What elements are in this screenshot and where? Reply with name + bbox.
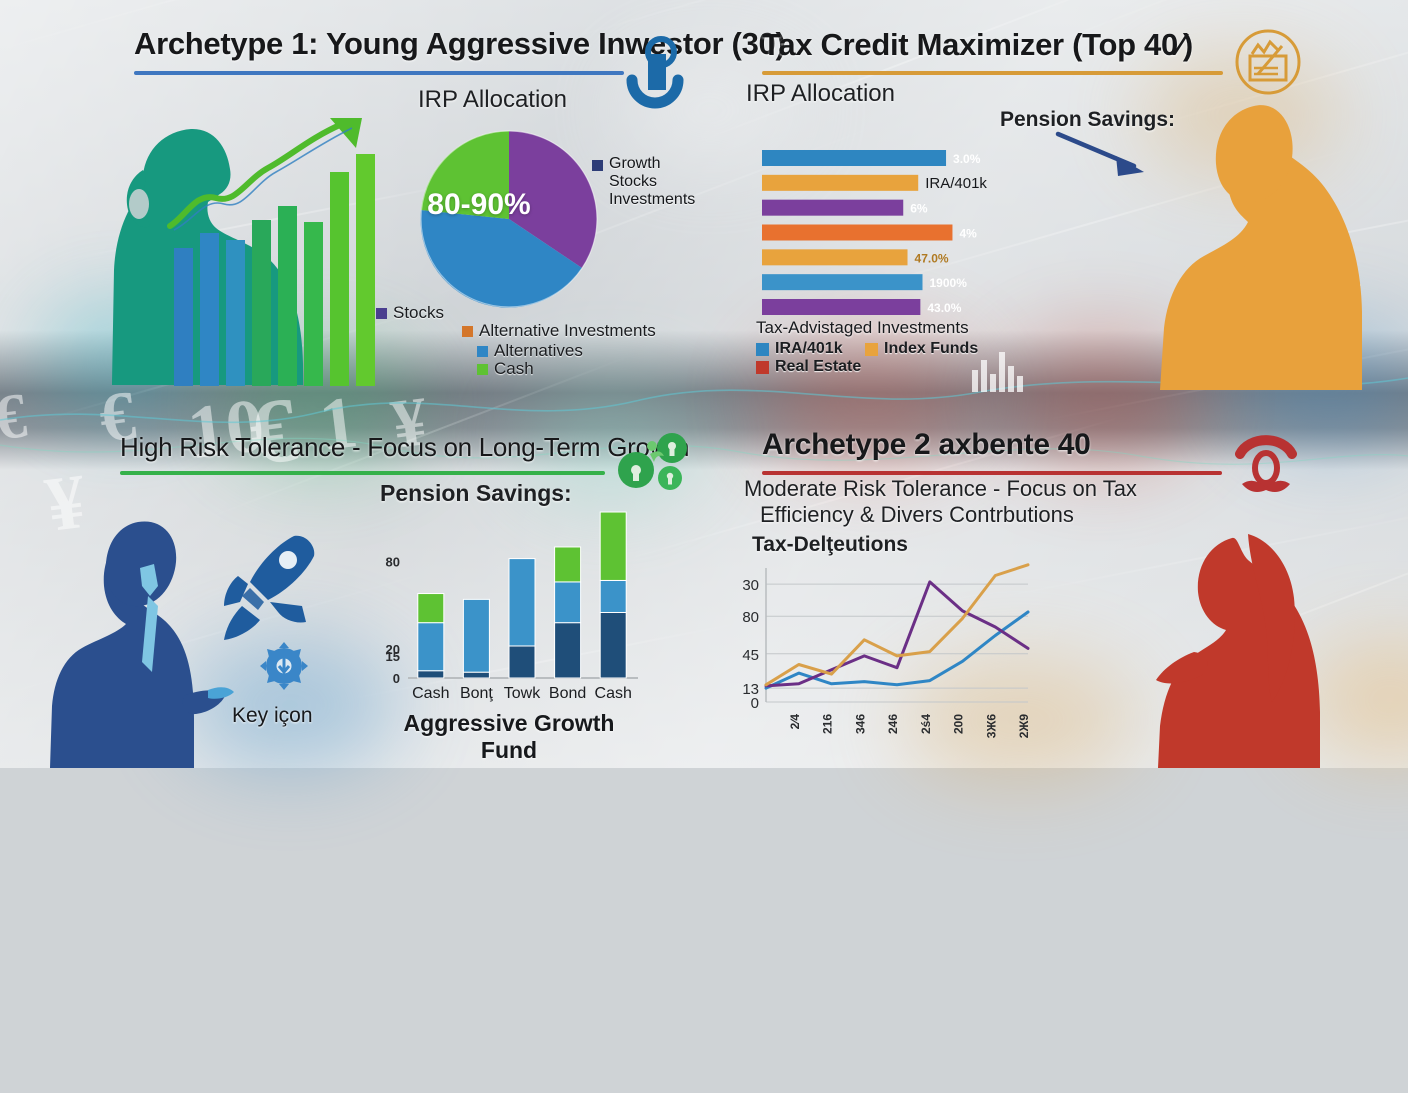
top-left-subtitle: IRP Allocation <box>418 86 567 114</box>
x-axis-category: Towk <box>504 685 541 702</box>
tax-maximizer-silhouette-orange <box>1156 98 1408 390</box>
tax-archetype-silhouette-red <box>1124 534 1374 768</box>
panel-bottom-right: Archetype 2 axbente 40 Moderate Risk Tol… <box>704 404 1408 768</box>
legend-label-growth-stocks: Growth Stocks Investments <box>609 155 687 209</box>
bottom-left-title-rule <box>120 471 605 475</box>
aggressive-growth-stacked-chart: 0152080CashBonţTowkBondCash <box>372 490 642 706</box>
pie-legend-alternative-investments: Alternative Investments <box>462 321 656 341</box>
x-axis-tick: 246 <box>886 714 900 734</box>
x-axis-tick: 200 <box>952 714 966 734</box>
panel-bottom-left: High Risk Tolerance - Focus on Long-Term… <box>0 404 704 768</box>
top-right-title-rule <box>762 71 1223 75</box>
x-axis-category: Cash <box>595 685 632 702</box>
y-axis-tick: 80 <box>386 555 400 570</box>
bar-value-label: 6% <box>910 202 928 216</box>
y-axis-tick: 45 <box>742 647 759 664</box>
user-group-icon <box>622 28 688 100</box>
x-axis-tick: 2⁄4 <box>788 714 802 730</box>
legend-label-stocks: Stocks <box>393 303 444 323</box>
legend-swatch-cash <box>477 364 488 375</box>
x-axis-tick: 216 <box>821 714 835 734</box>
pie-legend-growth-stocks: Growth Stocks Investments <box>592 155 687 209</box>
tax-deductions-line-chart: 0134580302⁄42163462462ś42003Ж62Ж9 <box>722 560 1042 760</box>
y-axis-tick: 20 <box>386 642 400 657</box>
bar-value-label: IRA/401k <box>925 175 987 192</box>
aggressive-growth-axis-label: Aggressive Growth Fund <box>384 710 634 764</box>
legend-label-cash: Cash <box>494 359 534 379</box>
legend-swatch-real-estate <box>756 361 769 374</box>
chart-document-icon <box>1234 28 1302 96</box>
top-right-title: Tax Credit Maximizer (Top 40⁄) <box>762 27 1193 63</box>
tax-advantaged-chart-title: Tax-Advistaged Investments <box>756 318 969 338</box>
legend-swatch-index-funds <box>865 343 878 356</box>
pension-savings-callout-top: Pension Savings: <box>1000 108 1175 132</box>
x-axis-category: Cash <box>412 685 449 702</box>
top-right-subtitle: IRP Allocation <box>746 80 895 108</box>
mini-bars-decoration <box>972 348 1032 392</box>
y-axis-tick: 13 <box>742 681 759 698</box>
gear-icon <box>258 640 310 692</box>
legend-swatch-alternatives <box>477 346 488 357</box>
legend-swatch-alternative-investments <box>462 326 473 337</box>
x-axis-tick: 3Ж6 <box>984 714 998 739</box>
panel-top-right: Tax Credit Maximizer (Top 40⁄) IRP Alloc… <box>704 0 1408 404</box>
panel-top-left: Archetype 1: Young Aggressive Inwestor (… <box>0 0 704 404</box>
bar-value-label: 4% <box>959 227 977 241</box>
key-icon-label: Key içon <box>232 704 313 728</box>
bottom-right-title-rule <box>762 471 1222 475</box>
pointer-arrow-icon <box>1056 130 1162 178</box>
pie-center-label: 80-90% <box>420 188 538 222</box>
x-axis-category: Bond <box>549 685 586 702</box>
y-axis-tick: 30 <box>742 577 759 594</box>
legend-label-alternatives: Alternatives <box>494 341 583 361</box>
y-axis-tick: 0 <box>393 671 400 686</box>
legend-swatch-growth-stocks <box>592 160 603 171</box>
legend-swatch-stocks <box>376 308 387 319</box>
top-left-title-rule <box>134 71 624 75</box>
legend-label-alternative-investments: Alternative Investments <box>479 321 656 341</box>
umbrella-pin-icon <box>1228 426 1304 494</box>
bottom-right-title: Archetype 2 axbente 40 <box>762 428 1091 462</box>
x-axis-tick: 346 <box>853 714 867 734</box>
x-axis-category: Bonţ <box>460 685 493 702</box>
y-axis-tick: 80 <box>742 609 759 626</box>
bar-legend-ira401k: IRA/401k <box>756 340 843 358</box>
rocket-icon <box>222 532 318 642</box>
legend-label-real-estate: Real Estate <box>775 358 861 376</box>
tax-advantaged-bar-chart: 3.0%IRA/401k6%4%47.0%1900%43.0% <box>762 150 1022 315</box>
pie-legend-alternatives: Alternatives <box>477 341 583 361</box>
bar-legend-real-estate: Real Estate <box>756 358 861 376</box>
bar-legend-index-funds: Index Funds <box>865 340 978 358</box>
legend-swatch-ira401k <box>756 343 769 356</box>
pie-legend-cash: Cash <box>477 359 534 379</box>
bar-value-label: 43.0% <box>927 301 961 315</box>
bottom-right-subtitle-line1: Moderate Risk Tolerance - Focus on Tax <box>744 476 1137 502</box>
bar-value-label: 1900% <box>930 276 968 290</box>
coins-icon <box>614 426 690 490</box>
bottom-left-title: High Risk Tolerance - Focus on Long-Term… <box>120 432 689 463</box>
x-axis-tick: 2Ж9 <box>1017 714 1031 739</box>
growth-bar-decoration <box>170 118 380 386</box>
pie-legend-stocks: Stocks <box>376 303 444 323</box>
x-axis-tick: 2ś4 <box>919 714 933 734</box>
line-series <box>766 582 1028 686</box>
bar-value-label: 3.0% <box>953 152 981 166</box>
tax-deductions-chart-title: Tax-Delţeutions <box>752 533 908 557</box>
bottom-right-subtitle-line2: Efficiency & Divers Contrbutions <box>760 502 1074 528</box>
bar-value-label: 47.0% <box>915 251 949 265</box>
legend-label-index-funds: Index Funds <box>884 340 978 358</box>
legend-label-ira401k: IRA/401k <box>775 340 843 358</box>
